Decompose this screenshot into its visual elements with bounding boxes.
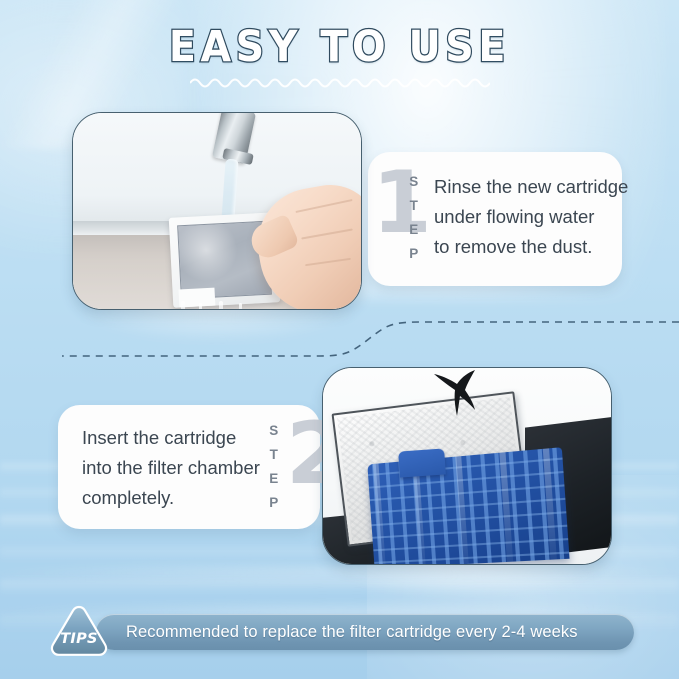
step-connector-dashed-line xyxy=(0,300,679,380)
basket-mesh-texture xyxy=(367,447,569,565)
step-1-text-card: 1 S T E P Rinse the new cartridge under … xyxy=(368,152,622,286)
step-1-letter-e: E xyxy=(406,220,422,240)
step-1-letter-p: P xyxy=(406,244,422,264)
step-2-letter-s: S xyxy=(266,421,282,441)
tips-message: Recommended to replace the filter cartri… xyxy=(126,614,578,650)
step-2-line-2: into the filter chamber xyxy=(82,453,260,483)
tips-bar: Recommended to replace the filter cartri… xyxy=(96,614,634,650)
step-1-line-3: to remove the dust. xyxy=(434,232,592,262)
step-1-line-2: under flowing water xyxy=(434,202,594,232)
basket-handle-lip xyxy=(398,448,446,477)
title-wave-divider xyxy=(190,74,490,88)
tips-badge: TIPS xyxy=(48,604,110,660)
step-2-letter-e: E xyxy=(266,469,282,489)
infographic-page: EASY TO USE 1 S T E P Rinse t xyxy=(0,0,679,679)
step-2-line-3: completely. xyxy=(82,483,174,513)
step-2-text-card: Insert the cartridge into the filter cha… xyxy=(58,405,320,529)
step-1-line-1: Rinse the new cartridge xyxy=(434,172,628,202)
step-2-letter-t: T xyxy=(266,445,282,465)
tips-badge-shape-icon xyxy=(48,604,110,660)
step-1-letter-t: T xyxy=(406,196,422,216)
step-1-number: 1 xyxy=(372,160,432,246)
blue-filter-basket xyxy=(367,447,569,565)
step-1-photo xyxy=(72,112,362,310)
step-2-letter-p: P xyxy=(266,493,282,513)
step-2-photo xyxy=(322,367,612,565)
title-block: EASY TO USE xyxy=(0,22,679,88)
page-title: EASY TO USE xyxy=(169,22,510,72)
step-1-letter-s: S xyxy=(406,172,422,192)
step-2-line-1: Insert the cartridge xyxy=(82,423,236,453)
